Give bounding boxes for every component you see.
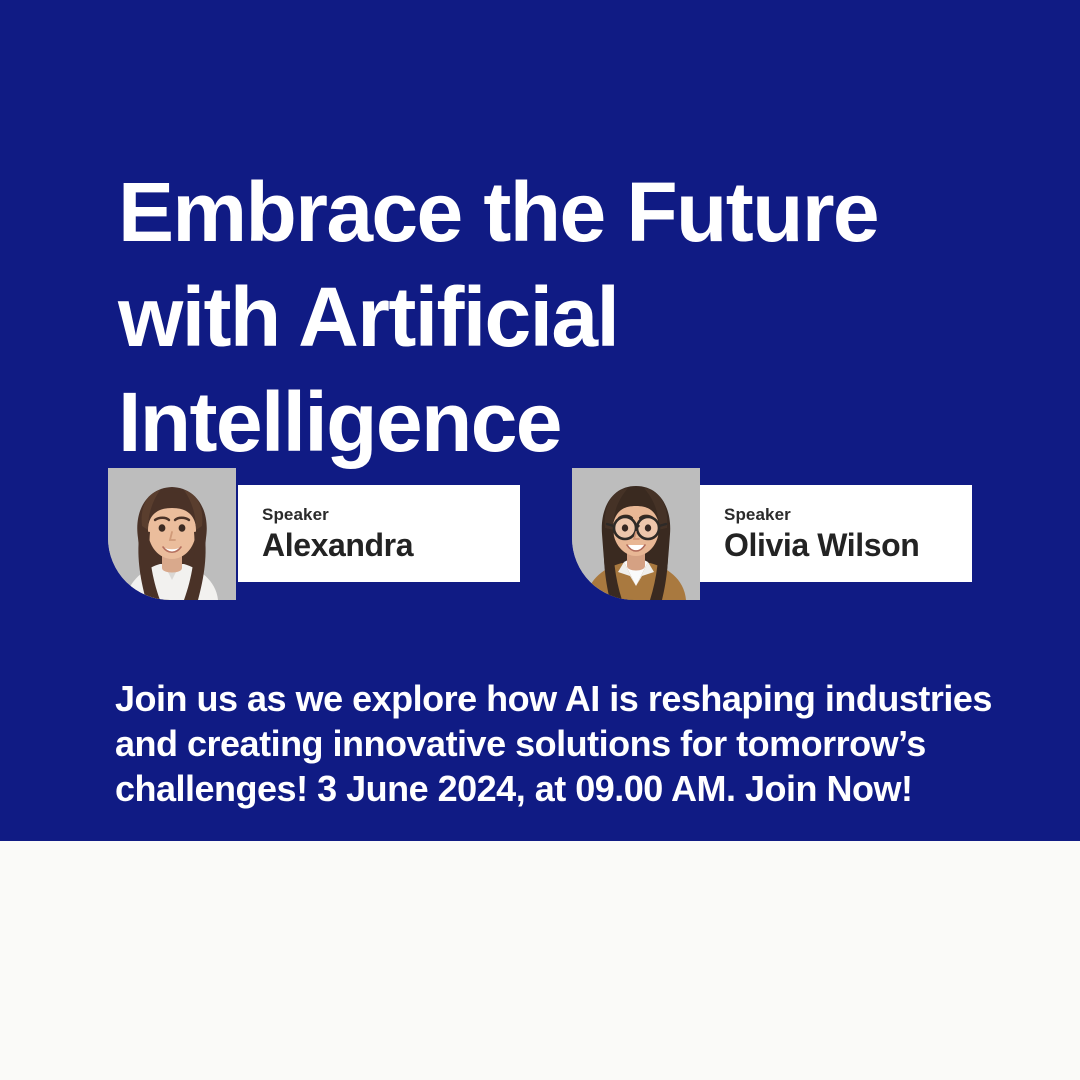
speaker-name: Alexandra <box>262 527 520 563</box>
portrait-image <box>572 468 700 600</box>
speaker-role-label: Speaker <box>262 505 520 525</box>
footer-bar: Capcut Free Registration! Follow our soc… <box>0 841 1080 1080</box>
speaker-role-label: Speaker <box>724 505 972 525</box>
speaker-label-card: Speaker Alexandra <box>238 485 520 582</box>
page-title: Embrace the Future with Artificial Intel… <box>118 160 1018 475</box>
event-poster: Embrace the Future with Artificial Intel… <box>0 0 1080 1080</box>
speaker-card: Speaker Alexandra <box>108 462 520 602</box>
event-description: Join us as we explore how AI is reshapin… <box>115 676 995 811</box>
speaker-label-card: Speaker Olivia Wilson <box>700 485 972 582</box>
speaker-name: Olivia Wilson <box>724 527 972 563</box>
speaker-card: Speaker Olivia Wilson <box>572 462 972 602</box>
avatar <box>108 468 236 600</box>
avatar <box>572 468 700 600</box>
portrait-image <box>108 468 236 600</box>
